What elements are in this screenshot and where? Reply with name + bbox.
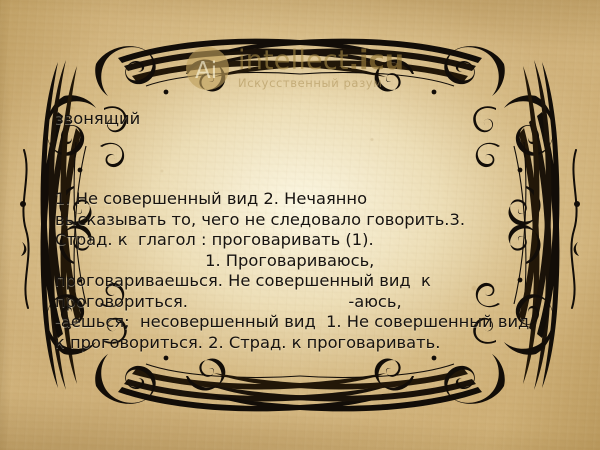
vertical-rule-right <box>571 150 580 308</box>
headword: звонящий <box>55 109 555 129</box>
parchment-card: Ai intellect.icu Искусственный разум зво… <box>0 0 600 450</box>
dictionary-article: звонящий 1. Не совершенный вид 2. Нечаян… <box>55 68 555 394</box>
vertical-rule-left <box>20 150 29 308</box>
definition-text: 1. Не совершенный вид 2. Нечаянно высказ… <box>55 189 555 353</box>
